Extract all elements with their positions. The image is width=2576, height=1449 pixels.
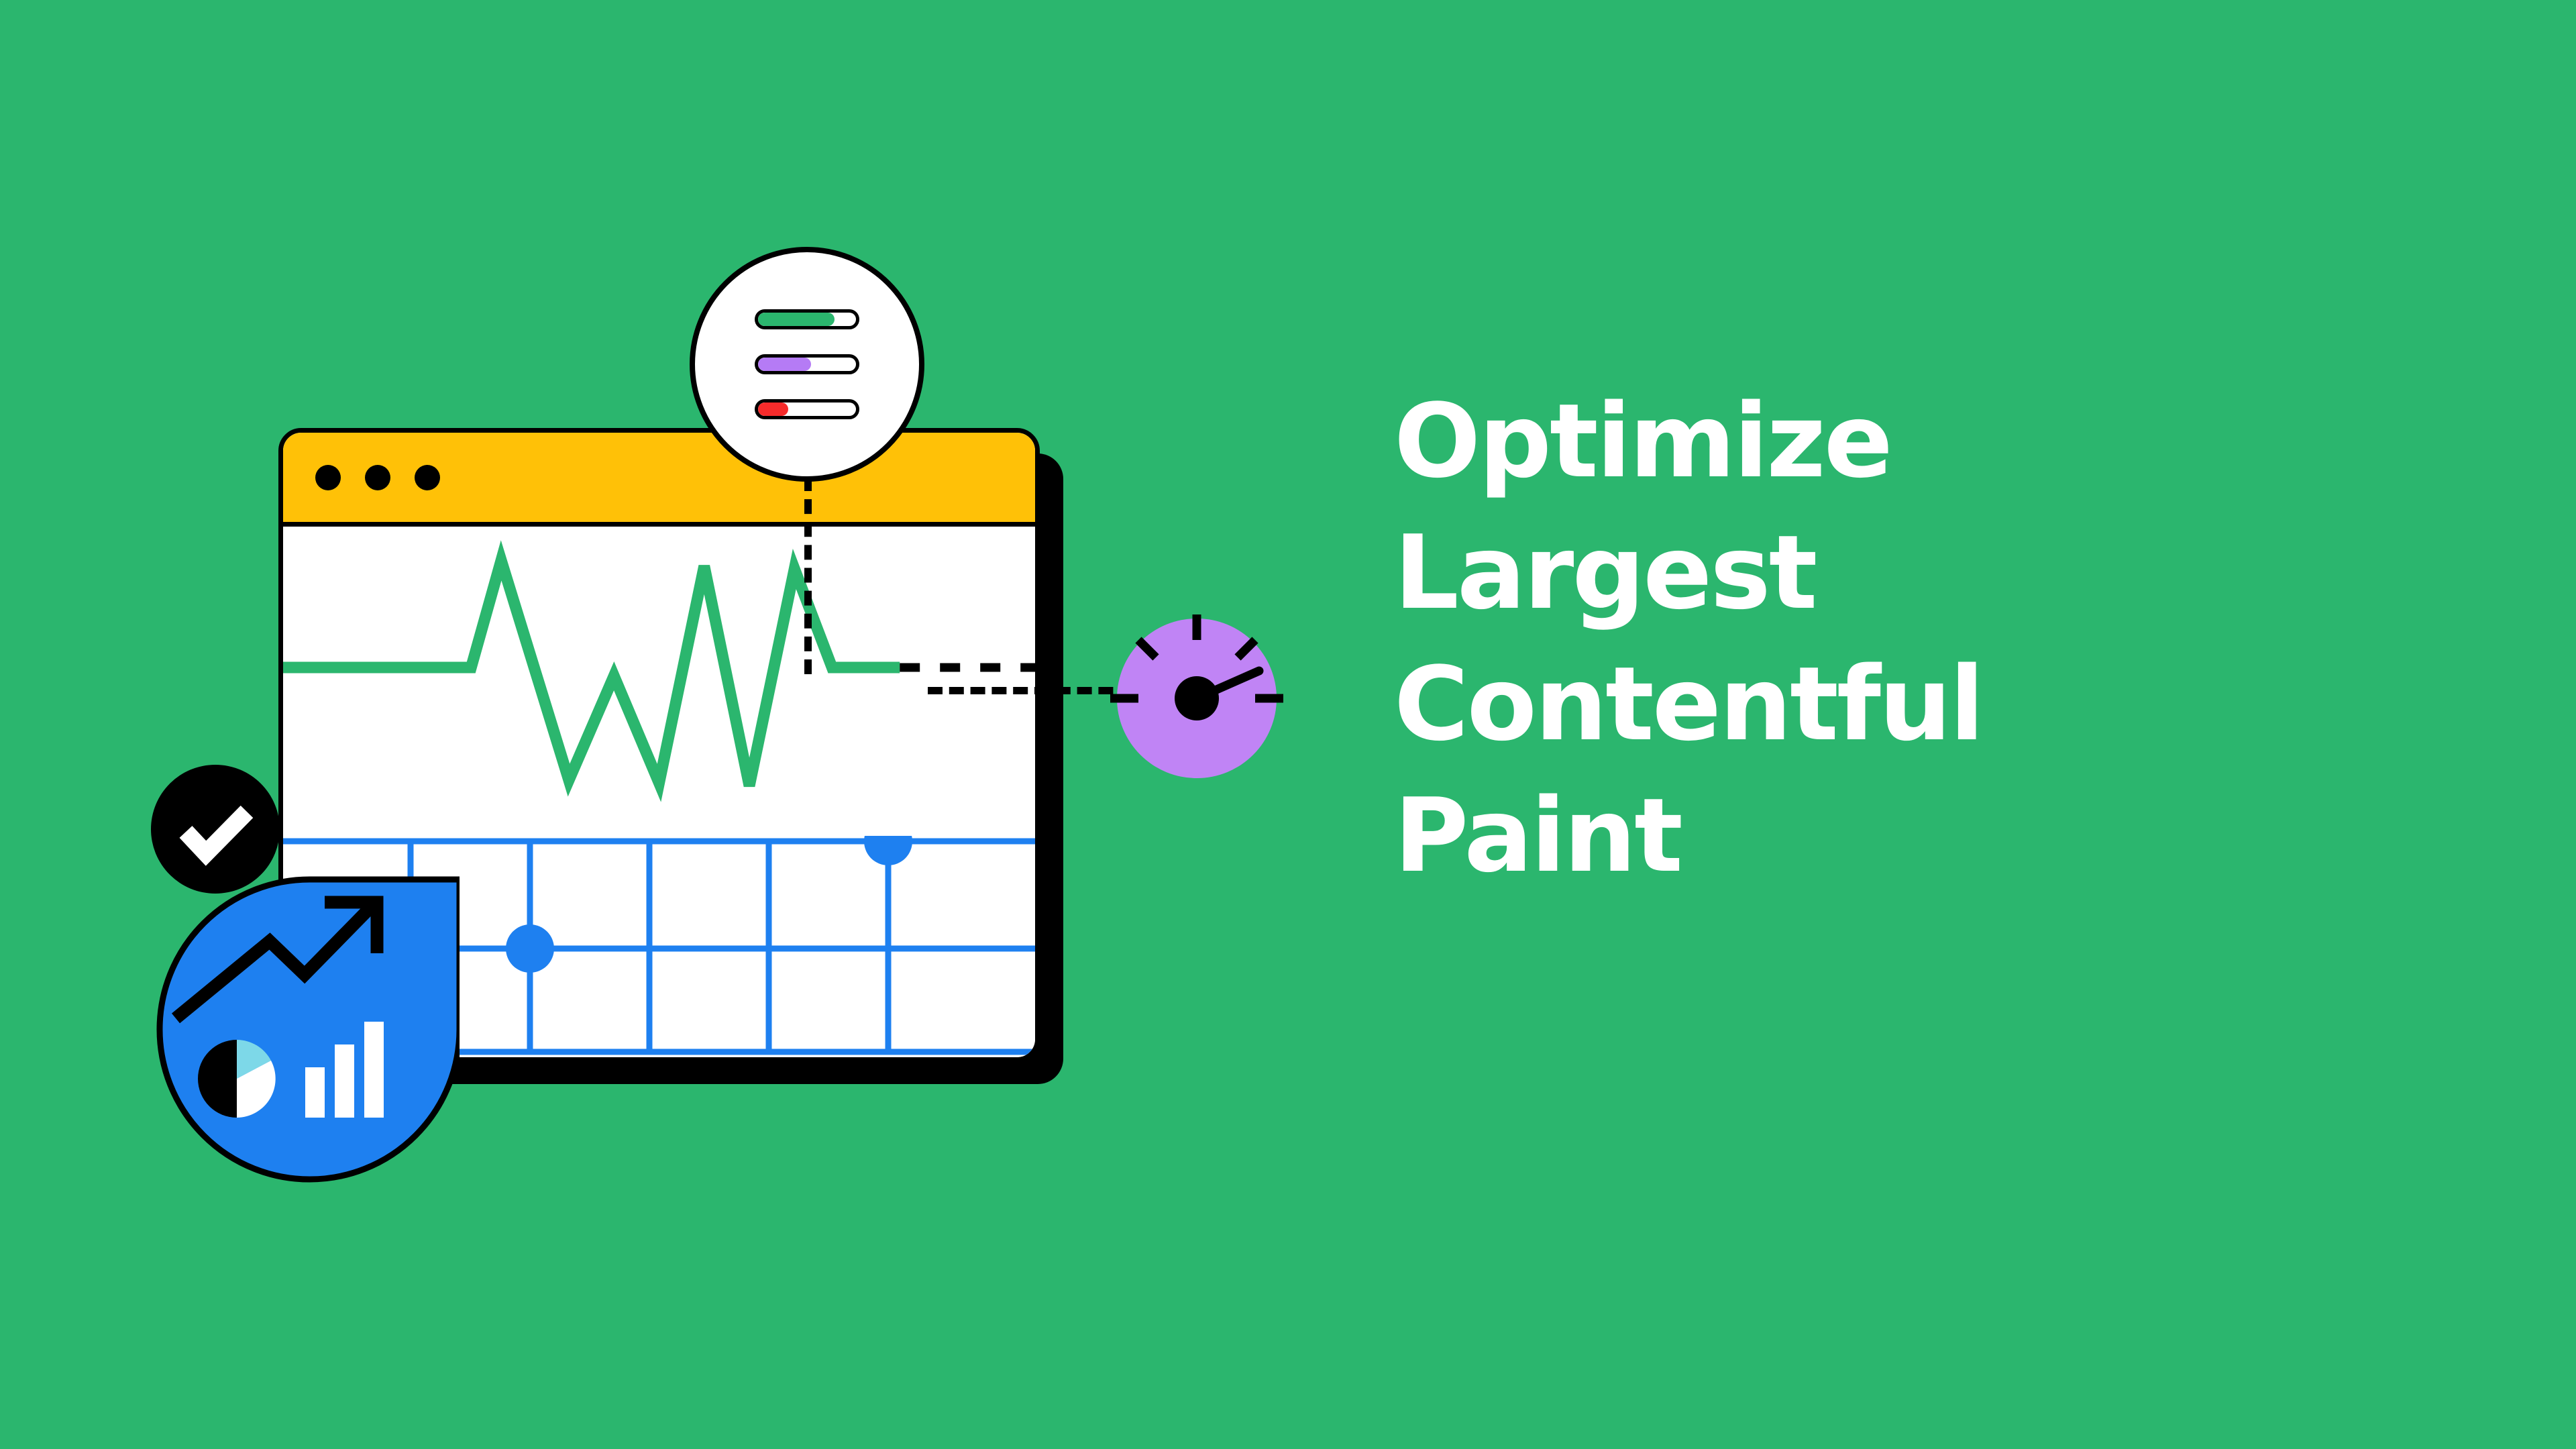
browser-titlebar [283, 433, 1035, 527]
page-title-line-1: Optimize [1394, 376, 2400, 507]
data-point-1 [506, 924, 554, 973]
bar-2 [335, 1044, 354, 1118]
gauge-hub [1175, 676, 1219, 720]
analytics-badge-shape [160, 879, 460, 1179]
checkmark-glyph [186, 812, 247, 853]
analytics-badge [149, 874, 460, 1185]
page-title-line-4: Paint [1394, 770, 2400, 902]
fcp-progress-bar [755, 309, 859, 329]
annotation-dashed-vertical [804, 476, 812, 674]
data-point-2 [864, 836, 912, 865]
lcp-progress-fill [758, 358, 811, 371]
pie-chart-icon [198, 1040, 276, 1118]
metrics-badge [690, 247, 924, 482]
bar-1 [305, 1067, 325, 1118]
performance-line-chart [283, 527, 1035, 808]
lcp-progress-bar [755, 354, 859, 374]
page-title-line-3: Contentful [1394, 639, 2400, 770]
speedometer-icon [1110, 612, 1283, 785]
cls-progress-bar [755, 399, 859, 419]
cls-progress-fill [758, 402, 788, 416]
window-dot-minimize-icon [365, 465, 390, 490]
bar-3 [364, 1022, 384, 1118]
illustration-canvas: Optimize Largest Contentful Paint [0, 0, 2576, 1449]
window-dot-close-icon [315, 465, 341, 490]
fcp-progress-fill [758, 313, 835, 326]
page-title-line-2: Largest [1394, 507, 2400, 639]
window-dot-maximize-icon [415, 465, 440, 490]
page-title: Optimize Largest Contentful Paint [1394, 376, 2400, 902]
